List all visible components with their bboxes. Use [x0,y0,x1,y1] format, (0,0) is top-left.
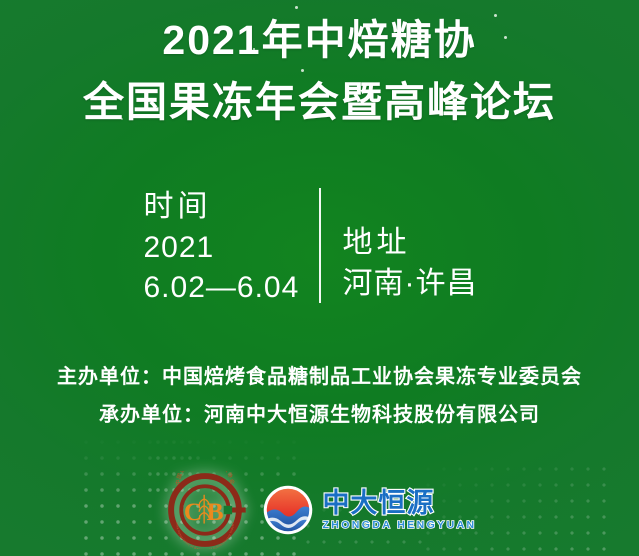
zhongda-cn-text: 中大恒源 [322,490,434,517]
zhongda-hengyuan-logo: 中大恒源 ZHONGDA HENGYUAN [262,484,476,536]
cbia-logo: 中国焙烤食品糖制品工业协会 China Association of Baker… [162,471,248,549]
address-label: 地址 [343,222,506,264]
title-line-2: 全国果冻年会暨高峰论坛 [0,76,639,128]
host-organization: 主办单位：中国焙烤食品糖制品工业协会果冻专业委员会 [0,358,639,396]
time-block: 时间 2021 6.02—6.04 [134,186,319,308]
address-value: 河南·许昌 [343,264,506,304]
time-year: 2021 [144,228,319,268]
address-block: 地址 河南·许昌 [321,186,506,304]
poster-title: 2021年中焙糖协 全国果冻年会暨高峰论坛 [0,14,639,128]
zhongda-en-text: ZHONGDA HENGYUAN [322,520,476,531]
time-label: 时间 [144,186,319,228]
co-organizer: 承办单位：河南中大恒源生物科技股份有限公司 [0,396,639,434]
event-info: 时间 2021 6.02—6.04 地址 河南·许昌 [0,186,639,304]
speck-dot [295,6,298,9]
title-line-1: 2021年中焙糖协 [0,14,639,66]
organizer-block: 主办单位：中国焙烤食品糖制品工业协会果冻专业委员会 承办单位：河南中大恒源生物科… [0,358,639,434]
zhongda-mark-icon [262,484,314,536]
logo-row: 中国焙烤食品糖制品工业协会 China Association of Baker… [0,470,639,550]
time-dates: 6.02—6.04 [144,268,319,308]
zhongda-wordmark: 中大恒源 ZHONGDA HENGYUAN [322,490,476,531]
event-poster: 2021年中焙糖协 全国果冻年会暨高峰论坛 时间 2021 6.02—6.04 … [0,0,639,556]
vertical-divider [319,188,321,303]
